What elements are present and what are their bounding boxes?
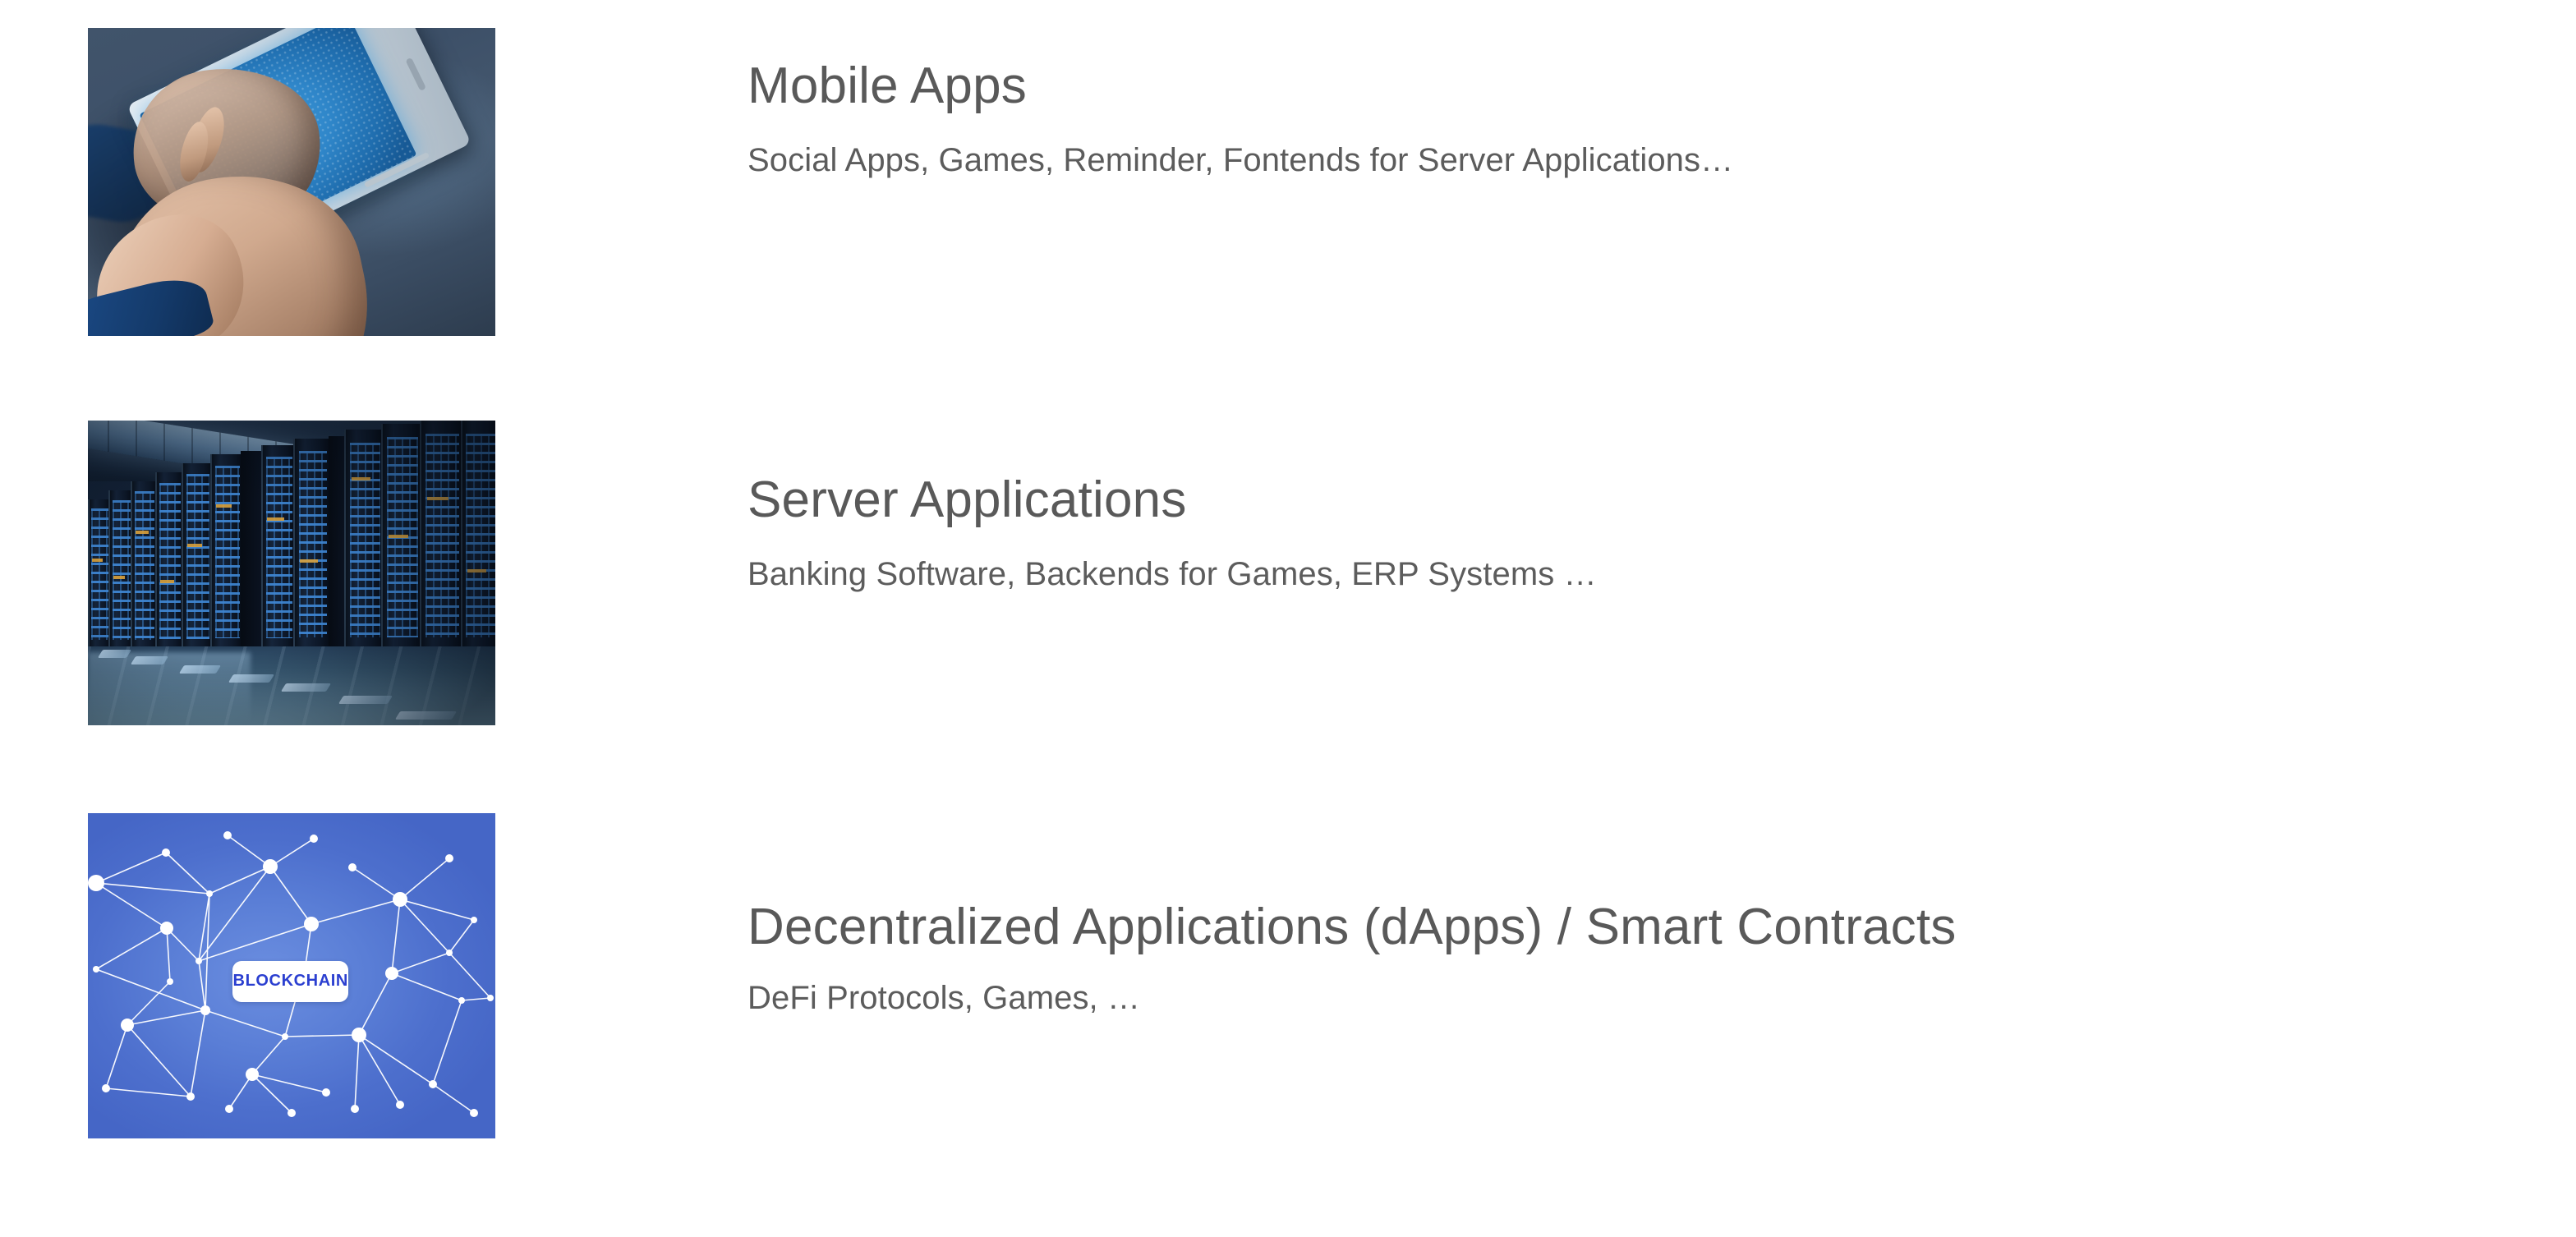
list-item[interactable]: Mobile Apps Social Apps, Games, Reminder… — [0, 28, 2576, 406]
list-item-subtitle: Social Apps, Games, Reminder, Fontends f… — [747, 140, 2472, 180]
data-center-image — [88, 421, 495, 725]
vignette — [88, 421, 495, 725]
list-item-title: Decentralized Applications (dApps) / Sma… — [747, 900, 2472, 955]
list-item-text: Server Applications Banking Software, Ba… — [747, 473, 2472, 594]
blockchain-thumbnail[interactable]: BLOCKCHAIN — [88, 813, 495, 1138]
list-item-text: Decentralized Applications (dApps) / Sma… — [747, 900, 2472, 1018]
server-applications-thumbnail[interactable] — [88, 421, 495, 725]
list-item[interactable]: Server Applications Banking Software, Ba… — [0, 421, 2576, 798]
blockchain-badge: BLOCKCHAIN — [232, 961, 348, 1002]
list-item-text: Mobile Apps Social Apps, Games, Reminder… — [747, 59, 2472, 180]
list-item-title: Server Applications — [747, 473, 2472, 528]
list-item[interactable]: BLOCKCHAIN Decentralized Applications (d… — [0, 813, 2576, 1199]
list-item-subtitle: Banking Software, Backends for Games, ER… — [747, 554, 2472, 594]
blockchain-badge-label: BLOCKCHAIN — [233, 972, 348, 991]
blockchain-network-image: BLOCKCHAIN — [88, 813, 495, 1138]
earpiece-speaker — [406, 57, 427, 91]
phone-in-hands-image — [88, 28, 495, 336]
list-item-title: Mobile Apps — [747, 59, 2472, 114]
list-item-subtitle: DeFi Protocols, Games, … — [747, 978, 2472, 1018]
content-list-page: Mobile Apps Social Apps, Games, Reminder… — [0, 0, 2576, 1237]
mobile-apps-thumbnail[interactable] — [88, 28, 495, 336]
